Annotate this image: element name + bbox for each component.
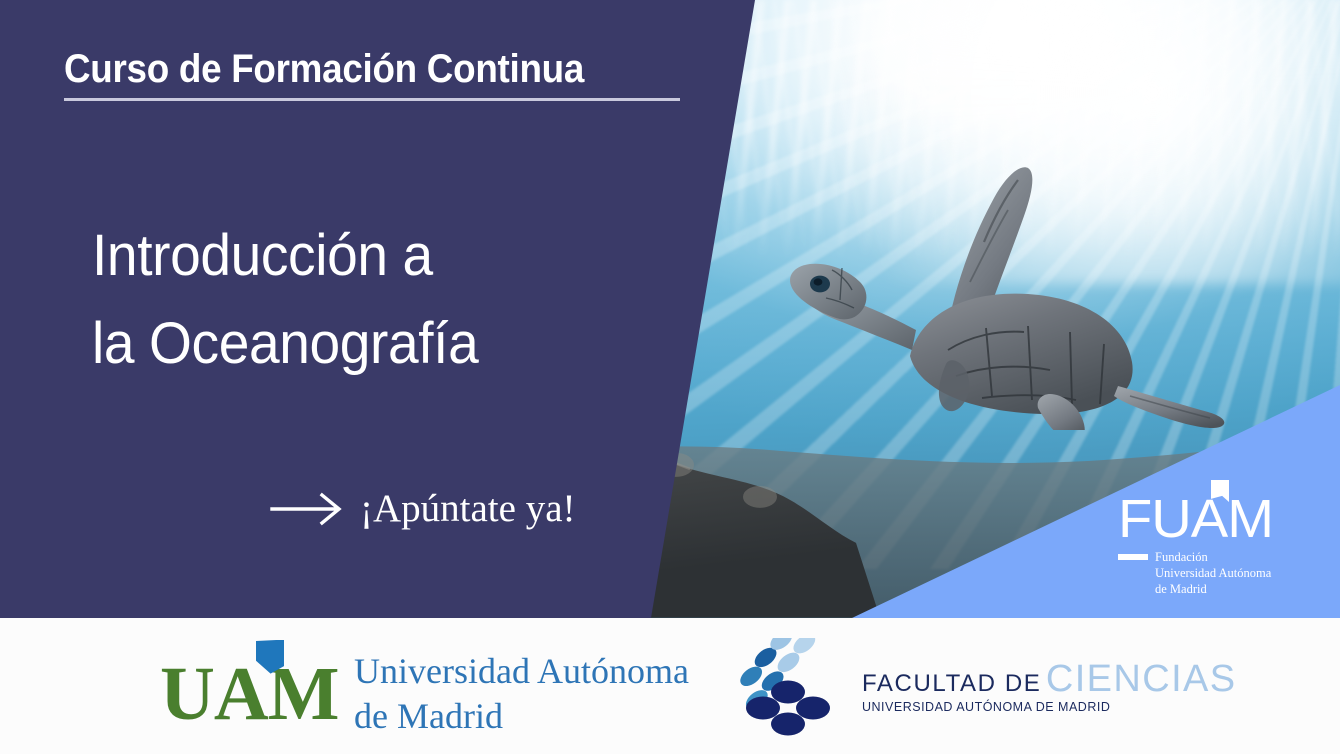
uam-name: Universidad Autónoma de Madrid <box>354 649 689 738</box>
faculty-of-sciences-logo: FACULTAD DE CIENCIAS UNIVERSIDAD AUTÓNOM… <box>736 638 1340 736</box>
right-arrow-icon <box>270 492 344 526</box>
title-line-1: Introducción a <box>92 212 478 300</box>
faculty-line-1: FACULTAD DE <box>862 670 1041 697</box>
faculty-line-2: CIENCIAS <box>1046 658 1237 700</box>
cta-label: ¡Apúntate ya! <box>360 489 576 528</box>
signup-call-to-action[interactable]: ¡Apúntate ya! <box>270 489 576 528</box>
uam-name-line-1: Universidad Autónoma <box>354 649 689 694</box>
fuam-dash-icon <box>1118 554 1148 560</box>
faculty-emblem-icon <box>736 638 840 736</box>
title-line-2: la Oceanografía <box>92 300 478 388</box>
page-title: Introducción a la Oceanografía <box>92 212 478 388</box>
course-kicker: Curso de Formación Continua <box>64 48 680 101</box>
fuam-subtitle-group: Fundación Universidad Autónoma de Madrid <box>1118 549 1294 597</box>
fuam-wordmark: FUAM <box>1118 492 1284 546</box>
fuam-logo: FUAM Fundación Universidad Autónoma de M… <box>1118 492 1294 597</box>
fuam-wordmark-group: FUAM <box>1118 492 1278 546</box>
kicker-label: Curso de Formación Continua <box>64 48 631 91</box>
fuam-subtitle-line-3: de Madrid <box>1155 582 1207 596</box>
uam-name-line-2: de Madrid <box>354 694 689 739</box>
faculty-line-3: UNIVERSIDAD AUTÓNOMA DE MADRID <box>862 700 1110 714</box>
fuam-subtitle-line-1: Fundación <box>1155 550 1208 564</box>
uam-logo: UAM Universidad Autónoma de Madrid <box>160 649 689 738</box>
kicker-underline <box>64 98 680 101</box>
uam-wordmark-group: UAM <box>160 658 332 730</box>
uam-wordmark: UAM <box>160 658 332 730</box>
faculty-text-group: FACULTAD DE CIENCIAS UNIVERSIDAD AUTÓNOM… <box>862 658 1340 717</box>
course-promo-poster: Curso de Formación Continua Introducción… <box>0 0 1340 754</box>
fuam-subtitle: Fundación Universidad Autónoma de Madrid <box>1155 549 1271 597</box>
fuam-subtitle-line-2: Universidad Autónoma <box>1155 566 1271 580</box>
